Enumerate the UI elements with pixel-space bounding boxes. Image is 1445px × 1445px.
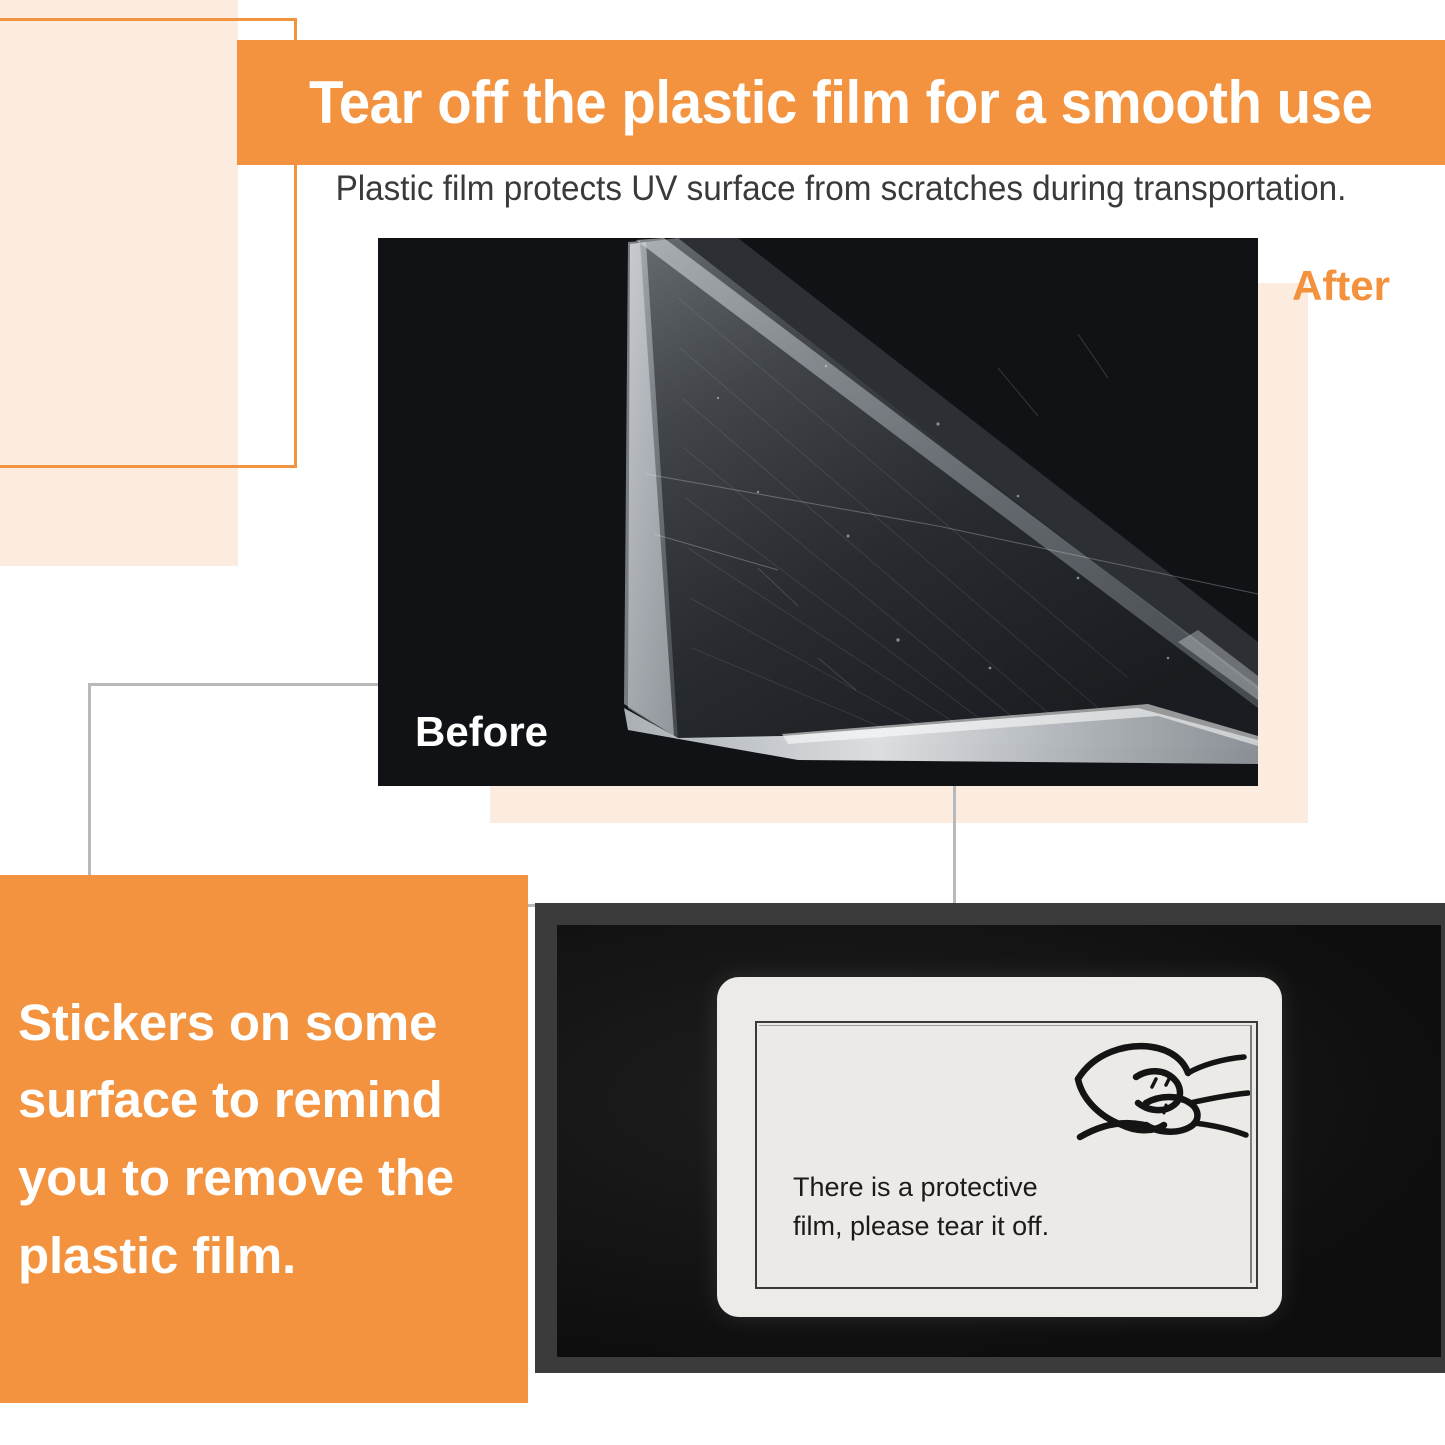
- sticker-text: There is a protective film, please tear …: [793, 1168, 1049, 1245]
- sticker-closeup-photo: There is a protective film, please tear …: [535, 903, 1445, 1373]
- photo-dark-surface: There is a protective film, please tear …: [557, 925, 1441, 1357]
- sticker-inner-border: There is a protective film, please tear …: [755, 1021, 1258, 1289]
- subtitle-text: Plastic film protects UV surface from sc…: [267, 168, 1415, 210]
- hand-peeling-film-icon: [1060, 1025, 1260, 1175]
- plastic-film-illustration: [378, 238, 1258, 786]
- callout-text: Stickers on some surface to remind you t…: [0, 984, 528, 1294]
- label-after: After: [1292, 262, 1390, 310]
- infographic-page: Tear off the plastic film for a smooth u…: [0, 0, 1445, 1445]
- warning-sticker: There is a protective film, please tear …: [717, 977, 1282, 1317]
- page-title: Tear off the plastic film for a smooth u…: [309, 73, 1373, 133]
- label-before: Before: [415, 708, 548, 756]
- plastic-film-peel-photo: [378, 238, 1258, 786]
- header-banner: Tear off the plastic film for a smooth u…: [237, 40, 1445, 165]
- callout-block: Stickers on some surface to remind you t…: [0, 875, 528, 1403]
